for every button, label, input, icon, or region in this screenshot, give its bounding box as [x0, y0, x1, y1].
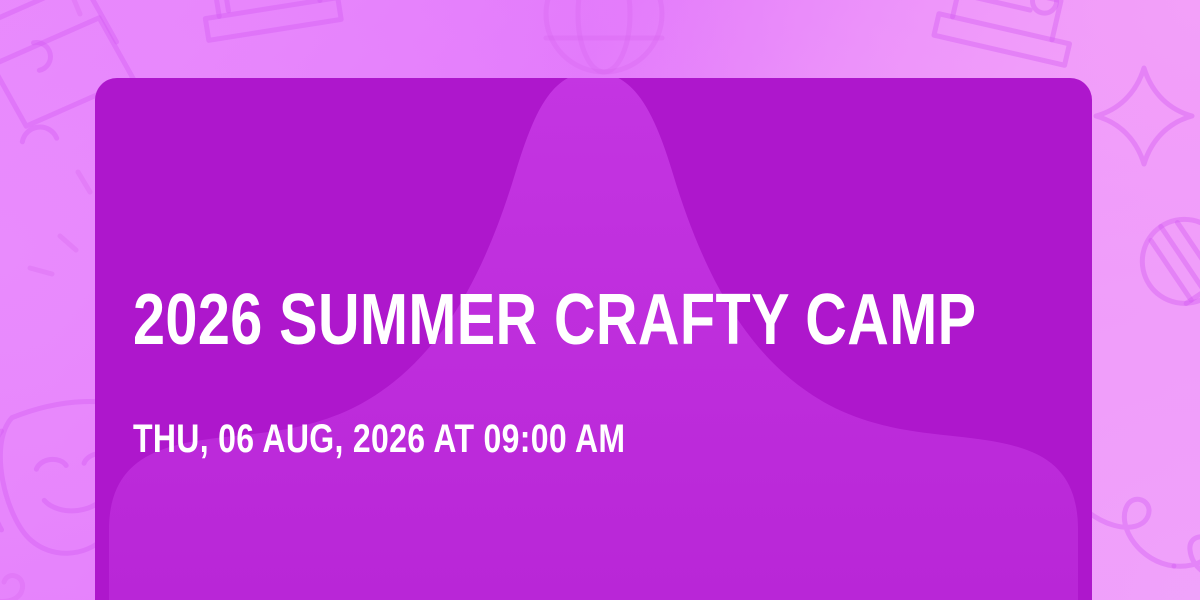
confetti-icon [30, 172, 90, 274]
balloon-icon [1126, 203, 1200, 354]
sparkle-icon [1096, 68, 1192, 164]
globe-wireframe-icon [546, 0, 662, 72]
sewing-machine-icon [934, 0, 1080, 65]
ribbon-swirl-icon [0, 576, 23, 600]
event-datetime: THU, 06 AUG, 2026 AT 09:00 AM [133, 415, 625, 463]
card-text-block: 2026 SUMMER CRAFTY CAMP THU, 06 AUG, 202… [133, 78, 1092, 600]
event-card: 2026 SUMMER CRAFTY CAMP THU, 06 AUG, 202… [95, 78, 1092, 600]
event-title: 2026 SUMMER CRAFTY CAMP [133, 278, 976, 362]
confetti-icon [70, 0, 80, 14]
sewing-machine-icon [198, 0, 341, 40]
event-banner: 2026 SUMMER CRAFTY CAMP THU, 06 AUG, 202… [0, 0, 1200, 600]
